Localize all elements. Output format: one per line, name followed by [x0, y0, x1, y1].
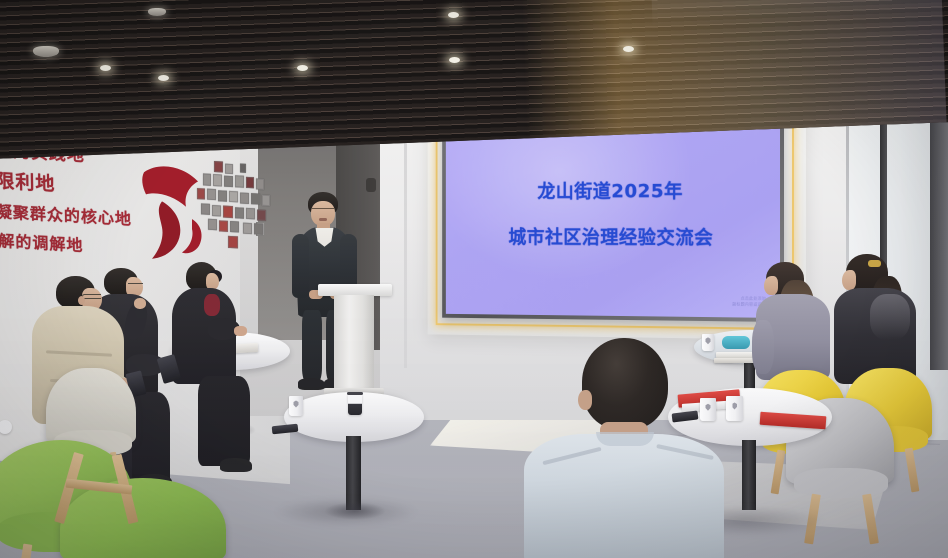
photo-tile [223, 206, 233, 219]
downlight-1 [100, 65, 111, 71]
slide-title-line-1: 龙山街道2025年 [538, 176, 683, 203]
foreground-collar [596, 432, 654, 446]
photo-wall-collage [186, 159, 276, 260]
photo-tile [262, 195, 270, 206]
paper-cup-lidded [348, 394, 362, 415]
lectern-column [334, 295, 374, 391]
photo-tile [246, 177, 254, 188]
downlight-4 [448, 12, 459, 18]
hair-clip-icon [868, 260, 881, 267]
audience-shoulder-highlight [870, 294, 910, 340]
photo-tile [197, 188, 205, 199]
presenter-glasses [312, 208, 334, 212]
photo-tile [203, 173, 211, 185]
meeting-room-photo: 主阵地 建的实践地 限利地 凝聚群众的核心地 解的调解地 [0, 0, 948, 558]
cup-logo-icon [294, 401, 299, 408]
audience-ear [78, 296, 85, 305]
photo-tile [214, 161, 223, 173]
photo-tile [212, 205, 221, 217]
downlight-6 [623, 46, 634, 52]
audience-arm [752, 320, 774, 374]
ceiling-fixture [33, 46, 59, 57]
photo-tile [240, 164, 246, 173]
photo-tile [256, 178, 264, 189]
foreground-ear [578, 390, 592, 410]
audience-shoe [220, 458, 252, 472]
photo-tile [225, 164, 233, 174]
photo-tile [218, 190, 227, 202]
slide-title-line-2: 城市社区治理经验交流会 [508, 223, 713, 250]
chair-leg [862, 494, 879, 545]
audience-face [842, 270, 856, 290]
photo-tile [246, 208, 255, 220]
photo-tile [219, 220, 228, 232]
photo-tile [229, 191, 238, 203]
downlight-2 [158, 75, 169, 81]
presenter-mouth [319, 218, 327, 221]
ceiling-fixture [148, 8, 166, 16]
photo-tile [201, 203, 210, 215]
photo-tile [224, 176, 233, 188]
audience-hand [234, 326, 247, 336]
presenter-arm-left [292, 234, 309, 298]
photo-tile [243, 223, 252, 235]
paper-cup [289, 396, 303, 416]
cup-lid [347, 392, 363, 395]
downlight-5 [449, 57, 460, 63]
photo-tile [230, 221, 239, 233]
photo-tile [213, 174, 222, 187]
photo-tile [208, 219, 217, 231]
foreground-head [582, 338, 668, 430]
chair-leg [905, 448, 920, 493]
downlight-3 [297, 65, 308, 71]
audience-leg [198, 376, 250, 466]
chair-wood-frame [64, 452, 150, 544]
lectern [318, 284, 392, 400]
photo-tile [228, 236, 238, 249]
table-center-shadow [276, 498, 416, 526]
photo-tile [251, 193, 260, 205]
photo-tile [235, 175, 244, 188]
photo-tile [257, 209, 266, 221]
photo-tile [240, 193, 249, 205]
photo-tile [235, 207, 244, 219]
audience-foreground [538, 338, 748, 558]
door-handle-plate [366, 178, 376, 192]
photo-tile [254, 223, 263, 235]
audience-scarf [204, 294, 220, 316]
phone-held [157, 354, 181, 384]
audience-face [764, 276, 778, 295]
photo-tile [207, 189, 216, 201]
